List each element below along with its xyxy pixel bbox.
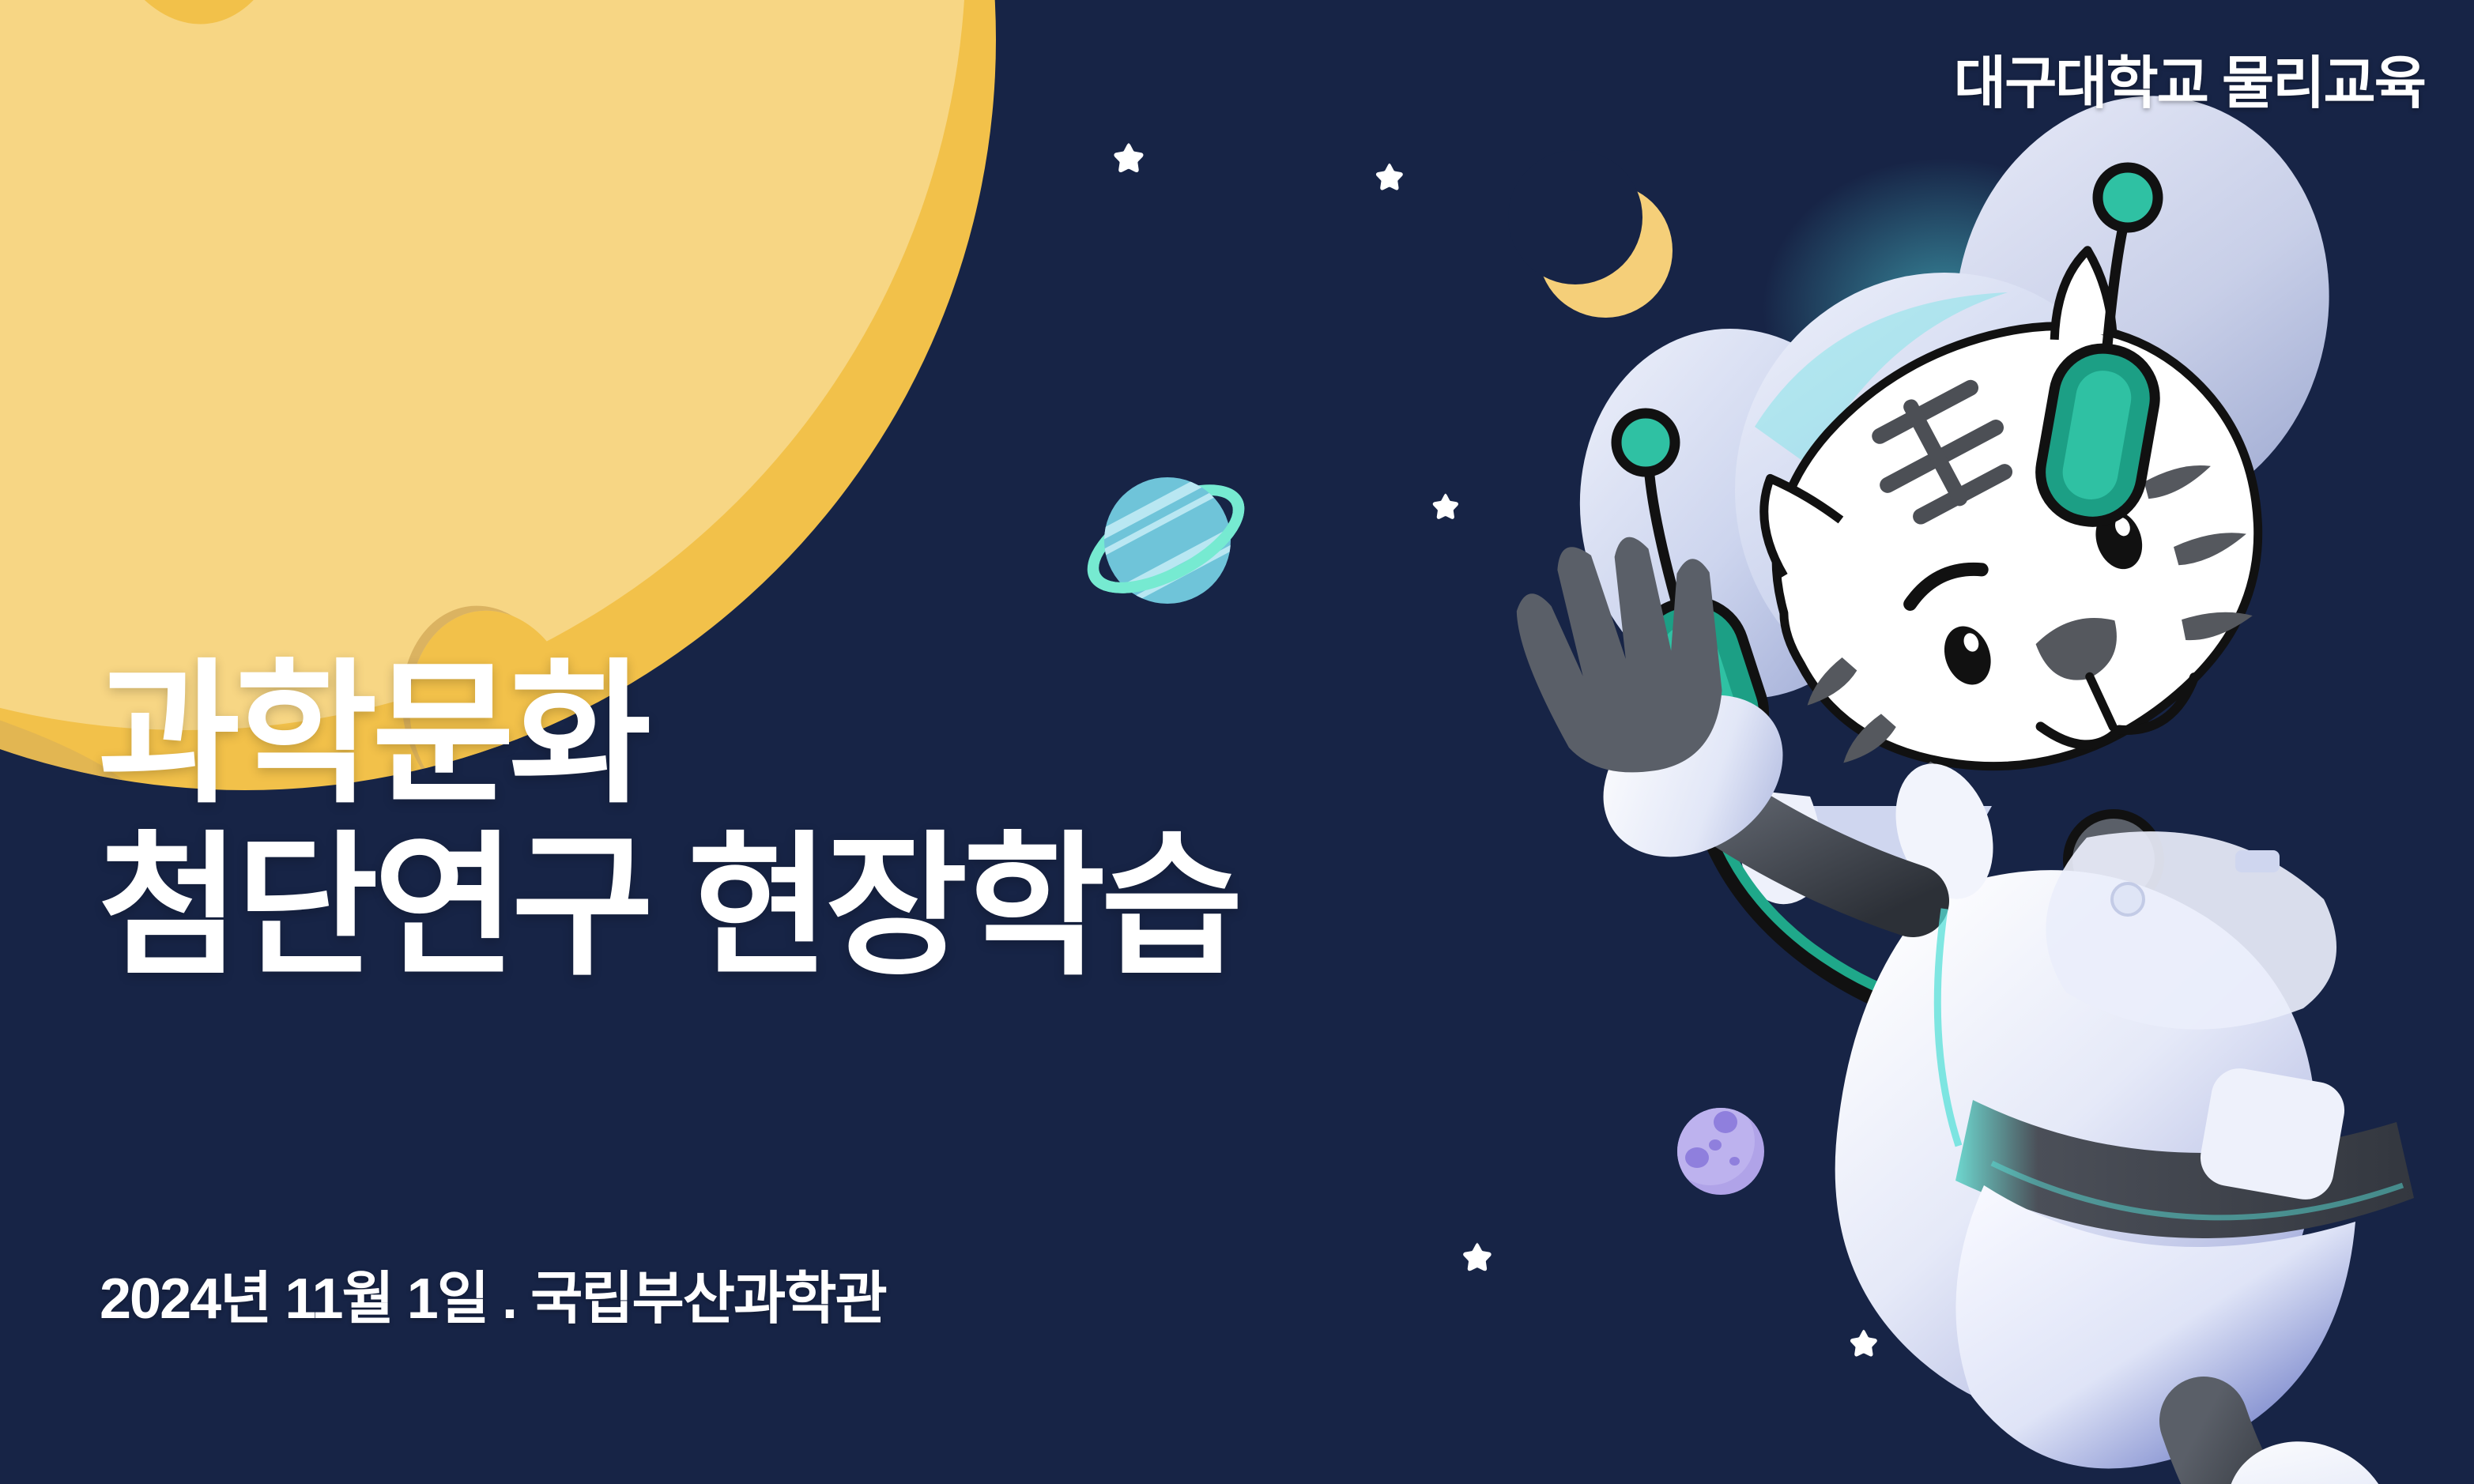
star-icon [1429, 492, 1461, 523]
star-icon [1110, 141, 1146, 177]
ringed-planet-icon [1083, 457, 1249, 623]
star-icon [1459, 1241, 1494, 1275]
date-and-venue: 2024년 11월 1일 . 국립부산과학관 [100, 1252, 886, 1335]
small-purple-moon-icon [1677, 1108, 1764, 1195]
star-icon [1846, 1328, 1880, 1361]
headline-line-1: 과학문화 [98, 656, 1239, 814]
crescent-moon-icon [1538, 183, 1673, 318]
poster-canvas: 대구대학교 물리교육 과학문화 첨단연구 현장학습 2024년 11월 1일 .… [0, 0, 2474, 1484]
star-icon [1372, 161, 1405, 194]
page-title: 과학문화 첨단연구 현장학습 [98, 656, 1239, 986]
organization-label: 대구대학교 물리교육 [1954, 36, 2425, 119]
headline-line-2: 첨단연구 현장학습 [98, 828, 1239, 986]
